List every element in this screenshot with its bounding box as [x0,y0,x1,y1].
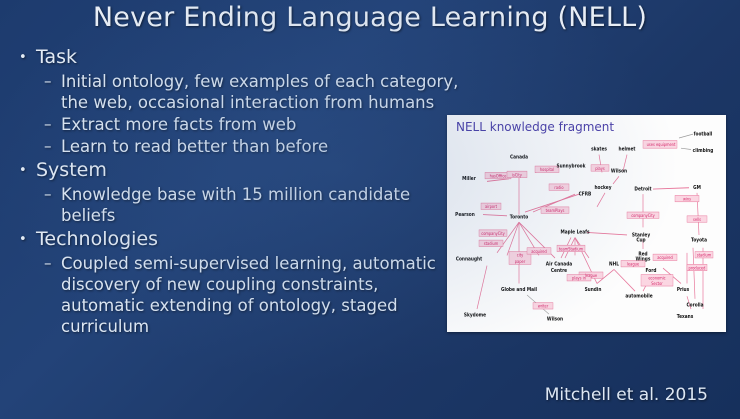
svg-text:Cup: Cup [636,237,646,244]
bullet-label: Task [36,46,77,68]
svg-text:football: football [694,131,713,138]
svg-text:Ford: Ford [646,268,657,275]
svg-text:plays: plays [595,165,604,171]
svg-text:Sundin: Sundin [585,287,602,294]
svg-text:city: city [517,252,524,258]
svg-text:Toronto: Toronto [510,214,529,221]
svg-text:Globe and Mail: Globe and Mail [501,287,537,294]
slide-body: • Task – Initial ontology, few examples … [8,44,460,337]
svg-text:Skydome: Skydome [464,312,487,319]
svg-text:produced: produced [689,265,706,271]
svg-text:climbing: climbing [693,148,714,155]
svg-text:writer: writer [538,303,549,309]
svg-text:teamStadium: teamStadium [559,246,583,252]
svg-text:acquired: acquired [657,255,673,261]
svg-text:plays in: plays in [572,275,586,281]
svg-text:Maple Leafs: Maple Leafs [560,229,589,236]
svg-text:hasOffice: hasOffice [490,173,507,179]
svg-text:Prius: Prius [677,287,689,294]
svg-text:radio: radio [554,185,564,191]
svg-text:Texans: Texans [677,314,694,321]
svg-text:GM: GM [693,185,701,192]
svg-text:Connaught: Connaught [456,256,483,263]
svg-text:uses equipment: uses equipment [647,142,676,148]
bullet-label: System [36,159,107,181]
bullet-system: • System [8,158,460,183]
bullet-task: • Task [8,45,460,70]
svg-text:Pearson: Pearson [455,211,475,218]
svg-text:Toyota: Toyota [691,237,707,244]
svg-text:skates: skates [591,146,607,153]
svg-text:automobile: automobile [625,293,653,300]
svg-text:helmet: helmet [619,146,636,153]
bullet-technologies: • Technologies [8,227,460,252]
svg-text:hockey: hockey [594,185,612,192]
svg-text:Sunnybrook: Sunnybrook [556,163,586,170]
svg-text:Centre: Centre [551,268,568,275]
svg-text:paper: paper [515,259,526,265]
slide: Never Ending Language Learning (NELL) • … [0,0,740,419]
bullet-label: Technologies [36,228,158,250]
bullet-marker: • [19,227,27,252]
svg-text:hospital: hospital [540,167,554,173]
svg-text:Canada: Canada [510,154,528,161]
svg-text:Corolla: Corolla [686,302,703,309]
svg-text:stadium: stadium [484,241,499,247]
svg-text:companyCity: companyCity [481,231,505,237]
svg-text:stadium: stadium [697,252,712,258]
bullet-marker: • [19,158,27,183]
sub-bullet-label: Extract more facts from web [61,115,296,134]
knowledge-graph-svg: uses equipment hasOffice hospital isCity… [447,115,726,332]
svg-text:Detroit: Detroit [634,186,652,193]
graph-relation-labels: uses equipment hasOffice hospital isCity… [481,142,711,309]
bullet-marker: • [19,45,27,70]
sub-bullet-label: Knowledge base with 15 million candidate… [61,185,410,225]
svg-text:airport: airport [485,204,497,210]
sub-bullet-coupled-learning: – Coupled semi-supervised learning, auto… [8,253,460,337]
graph-node-labels: Miller Canada Sunnybrook Pearson Toronto… [455,131,714,323]
svg-text:teamPlays: teamPlays [546,208,565,214]
svg-text:companyCity: companyCity [631,213,655,219]
sub-bullet-label: Coupled semi-supervised learning, automa… [61,254,436,336]
svg-text:isCity: isCity [512,172,522,178]
sub-bullet-initial-ontology: – Initial ontology, few examples of each… [8,71,460,113]
svg-text:Wings: Wings [636,256,651,263]
sub-bullet-knowledge-base: – Knowledge base with 15 million candida… [8,184,460,226]
svg-text:wins: wins [683,196,691,202]
dash-marker: – [44,184,52,205]
sub-bullet-label: Learn to read better than before [61,137,328,156]
svg-text:league: league [585,273,598,279]
svg-text:Miller: Miller [462,176,476,183]
dash-marker: – [44,114,52,135]
sub-bullet-extract-facts: – Extract more facts from web [8,114,460,135]
svg-text:acquired: acquired [531,248,547,254]
svg-text:Sector: Sector [651,280,663,286]
svg-text:NHL: NHL [609,261,619,268]
citation: Mitchell et al. 2015 [545,385,708,405]
sub-bullet-label: Initial ontology, few examples of each c… [61,72,458,112]
dash-marker: – [44,253,52,274]
svg-text:Wilson: Wilson [611,168,628,175]
dash-marker: – [44,71,52,92]
sub-bullet-learn-to-read: – Learn to read better than before [8,136,460,157]
svg-text:Wilson: Wilson [547,316,564,323]
svg-text:sells: sells [693,216,701,222]
nell-knowledge-fragment-figure: NELL knowledge fragment [447,115,726,332]
dash-marker: – [44,136,52,157]
svg-text:CFRB: CFRB [579,191,592,198]
page-title: Never Ending Language Learning (NELL) [0,2,740,33]
